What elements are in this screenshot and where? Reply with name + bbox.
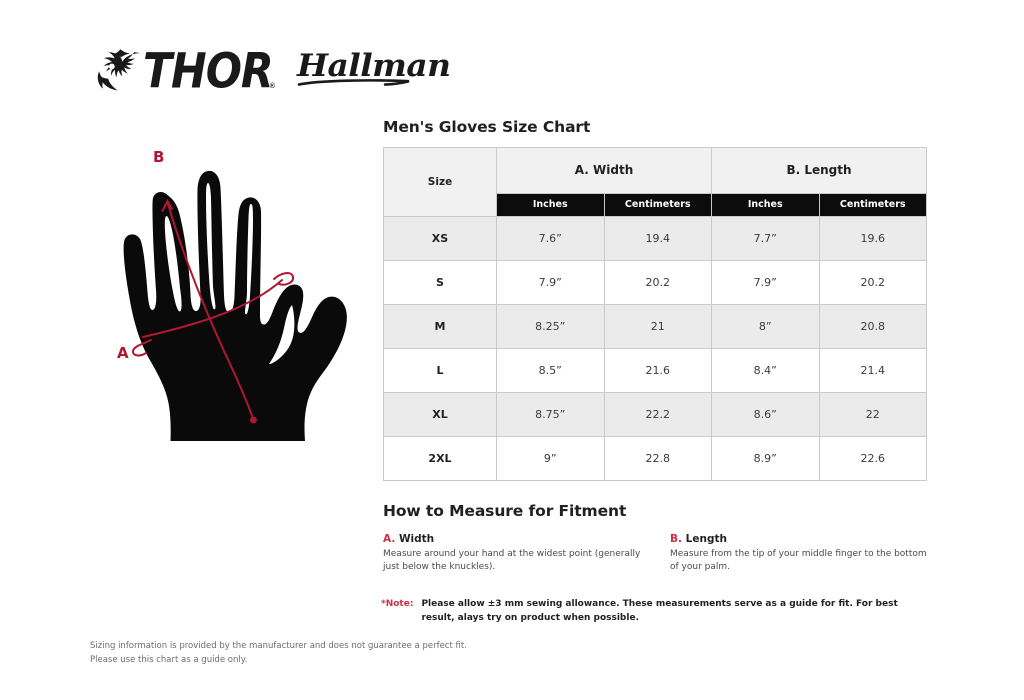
column-header-length-inches: Inches (712, 193, 820, 216)
glove-measurement-illustration: B A (96, 138, 361, 448)
cell-width-centimeters: 20.2 (604, 261, 712, 305)
cell-width-inches: 8.25” (497, 305, 605, 349)
cell-width-inches: 8.75” (497, 393, 605, 437)
table-row: L 8.5” 21.6 8.4” 21.4 (384, 349, 927, 393)
cell-width-centimeters: 22.8 (604, 437, 712, 481)
cell-width-inches: 9” (497, 437, 605, 481)
cell-width-centimeters: 21.6 (604, 349, 712, 393)
cell-size: L (384, 349, 497, 393)
column-group-header-length: B. Length (712, 148, 927, 194)
measure-width-name: Width (399, 533, 434, 545)
cell-size: S (384, 261, 497, 305)
column-header-width-inches: Inches (497, 193, 605, 216)
glove-hand-silhouette-icon: B A (96, 138, 361, 443)
measure-width-heading: A. Width (383, 533, 670, 545)
measure-length-heading: B. Length (670, 533, 928, 545)
cell-length-centimeters: 19.6 (819, 217, 927, 261)
length-label-b: B (153, 148, 164, 166)
cell-length-inches: 7.7” (712, 217, 820, 261)
cell-width-centimeters: 21 (604, 305, 712, 349)
table-row: XS 7.6” 19.4 7.7” 19.6 (384, 217, 927, 261)
cell-width-inches: 7.6” (497, 217, 605, 261)
cell-length-inches: 8.6” (712, 393, 820, 437)
page-title: Men's Gloves Size Chart (383, 118, 590, 136)
cell-length-inches: 7.9” (712, 261, 820, 305)
column-header-width-centimeters: Centimeters (604, 193, 712, 216)
measure-width-letter: A. (383, 533, 395, 545)
how-to-measure-title: How to Measure for Fitment (383, 502, 626, 520)
column-header-length-centimeters: Centimeters (819, 193, 927, 216)
cell-length-centimeters: 20.8 (819, 305, 927, 349)
table-row: M 8.25” 21 8” 20.8 (384, 305, 927, 349)
cell-length-inches: 8” (712, 305, 820, 349)
table-row: S 7.9” 20.2 7.9” 20.2 (384, 261, 927, 305)
how-to-measure-columns: A. Width Measure around your hand at the… (383, 533, 928, 574)
cell-length-centimeters: 20.2 (819, 261, 927, 305)
measure-length-letter: B. (670, 533, 682, 545)
cell-size: M (384, 305, 497, 349)
cell-length-centimeters: 22.6 (819, 437, 927, 481)
cell-width-inches: 7.9” (497, 261, 605, 305)
note-row: *Note: Please allow ±3 mm sewing allowan… (381, 598, 929, 625)
table-row: 2XL 9” 22.8 8.9” 22.6 (384, 437, 927, 481)
length-end-dot-icon (250, 417, 257, 424)
column-header-size: Size (384, 148, 497, 217)
measure-length-name: Length (686, 533, 727, 545)
table-head: Size A. Width B. Length Inches Centimete… (384, 148, 927, 217)
cell-length-inches: 8.9” (712, 437, 820, 481)
cell-size: XL (384, 393, 497, 437)
measure-length-description: Measure from the tip of your middle fing… (670, 548, 928, 574)
measure-item-length: B. Length Measure from the tip of your m… (670, 533, 928, 574)
column-group-header-width: A. Width (497, 148, 712, 194)
measure-item-width: A. Width Measure around your hand at the… (383, 533, 670, 574)
measure-width-description: Measure around your hand at the widest p… (383, 548, 645, 574)
hallman-logo: Hallman (297, 51, 442, 91)
hallman-wordmark: Hallman (297, 51, 451, 82)
thor-viking-helmet-icon (96, 47, 142, 95)
cell-width-inches: 8.5” (497, 349, 605, 393)
note-text: Please allow ±3 mm sewing allowance. The… (421, 598, 929, 625)
cell-length-inches: 8.4” (712, 349, 820, 393)
cell-width-centimeters: 19.4 (604, 217, 712, 261)
thor-wordmark: THOR (143, 47, 273, 95)
table-group-header-row: Size A. Width B. Length (384, 148, 927, 194)
cell-length-centimeters: 21.4 (819, 349, 927, 393)
cell-width-centimeters: 22.2 (604, 393, 712, 437)
width-arrowhead-right-icon (274, 273, 293, 285)
footer-disclaimer: Sizing information is provided by the ma… (90, 639, 467, 667)
note-label: *Note: (381, 598, 413, 625)
width-label-a: A (117, 344, 129, 362)
footer-line-1: Sizing information is provided by the ma… (90, 639, 467, 653)
brand-logo-row: THOR ® Hallman (96, 42, 442, 100)
table-row: XL 8.75” 22.2 8.6” 22 (384, 393, 927, 437)
cell-length-centimeters: 22 (819, 393, 927, 437)
size-chart-page: { "brand": { "thor_word": "THOR", "thor_… (0, 0, 1024, 700)
thor-logo: THOR ® (96, 47, 275, 95)
footer-line-2: Please use this chart as a guide only. (90, 653, 467, 667)
size-chart-table: Size A. Width B. Length Inches Centimete… (383, 147, 927, 481)
cell-size: 2XL (384, 437, 497, 481)
cell-size: XS (384, 217, 497, 261)
table-body: XS 7.6” 19.4 7.7” 19.6 S 7.9” 20.2 7.9” … (384, 217, 927, 481)
